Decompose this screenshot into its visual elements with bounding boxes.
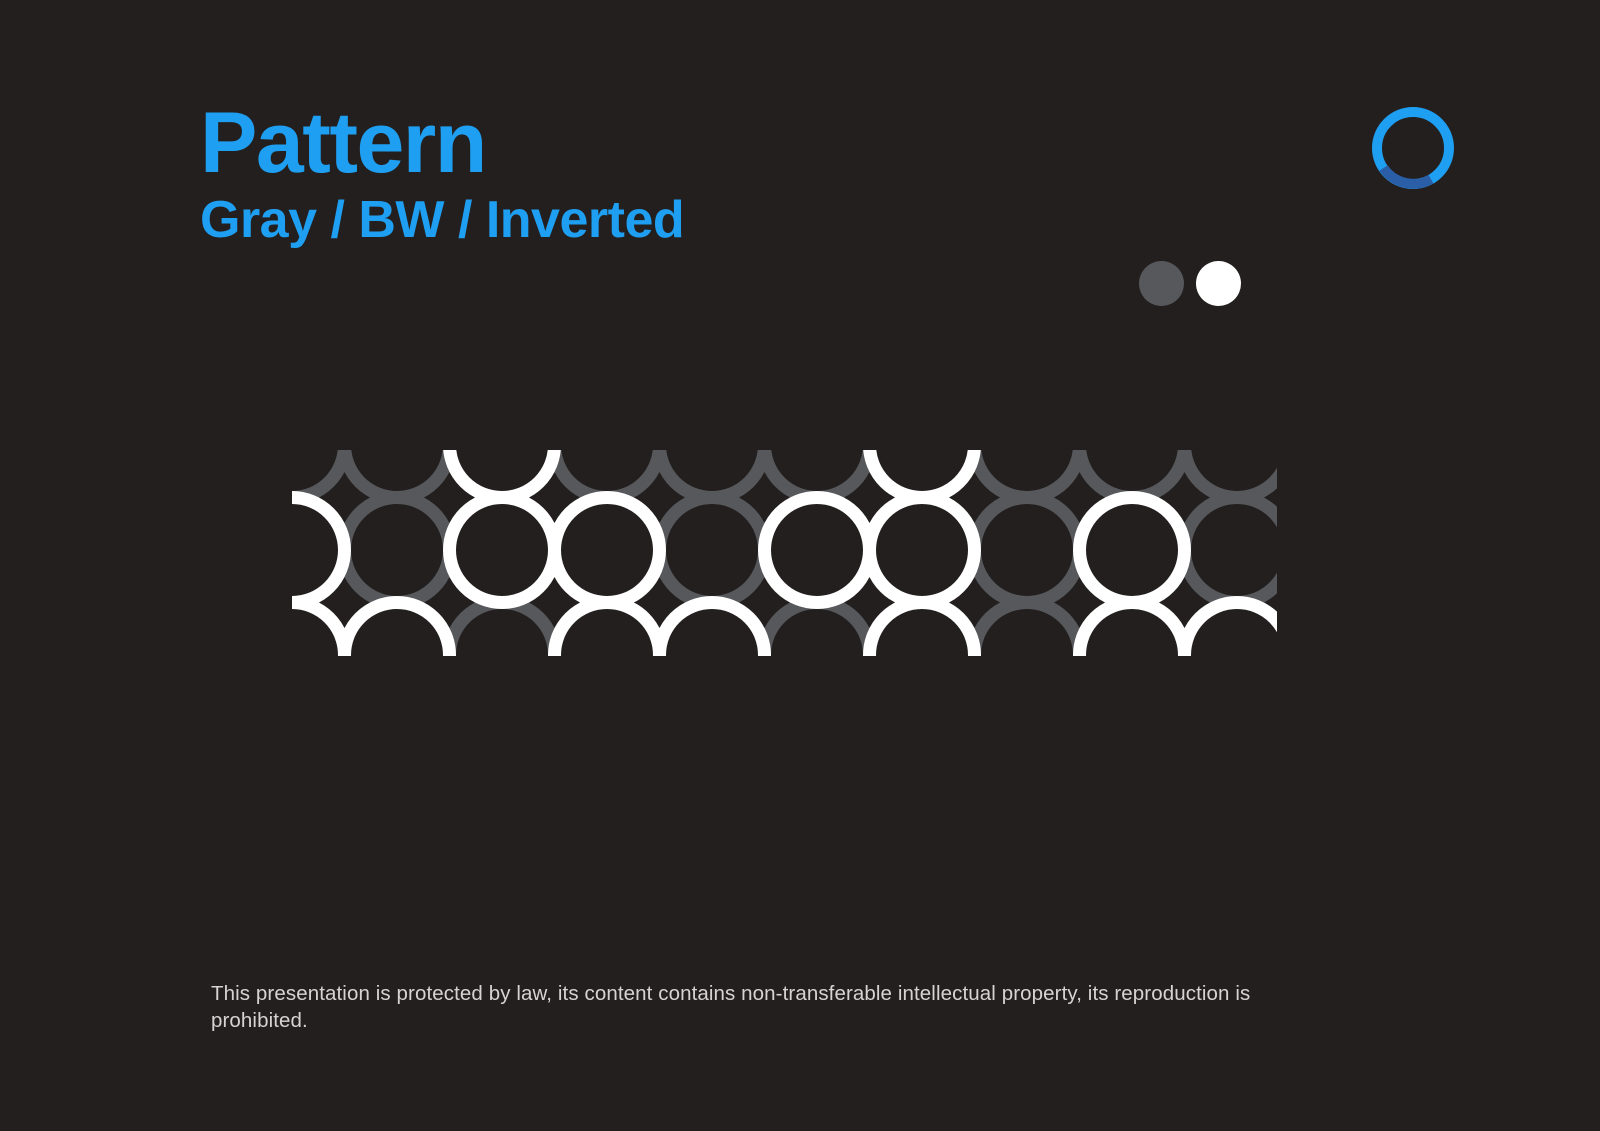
pattern-circle [292, 603, 345, 657]
page-subtitle: Gray / BW / Inverted [200, 193, 1100, 248]
pattern-circle [975, 603, 1080, 657]
pattern-circle [555, 450, 660, 498]
title-block: Pattern Gray / BW / Inverted [200, 104, 1100, 248]
pattern-circle [765, 450, 870, 498]
pattern-circle [450, 603, 555, 657]
pattern-circle [870, 498, 975, 603]
pattern-circle [450, 498, 555, 603]
pattern-circle [1080, 498, 1185, 603]
page-title: Pattern [200, 104, 1100, 183]
slide-canvas: Pattern Gray / BW / Inverted This presen… [0, 0, 1600, 1131]
pattern-circle [1185, 498, 1278, 603]
pattern-circle [1080, 450, 1185, 498]
color-swatch-group [1139, 261, 1241, 306]
pattern-circle [345, 450, 450, 498]
circle-lattice-pattern [292, 450, 1277, 656]
pattern-circle [1185, 450, 1278, 498]
pattern-circle [975, 498, 1080, 603]
pattern-circle [870, 603, 975, 657]
pattern-circle [765, 498, 870, 603]
pattern-circle [765, 603, 870, 657]
pattern-circle [975, 450, 1080, 498]
pattern-circle [1185, 603, 1278, 657]
footer-legal-note: This presentation is protected by law, i… [211, 980, 1311, 1034]
pattern-circle [660, 498, 765, 603]
pattern-circle [870, 450, 975, 498]
pattern-circle [450, 450, 555, 498]
pattern-circle [345, 603, 450, 657]
pattern-circle [555, 498, 660, 603]
gray-swatch [1139, 261, 1184, 306]
ring-logo-svg [1368, 103, 1458, 193]
white-swatch [1196, 261, 1241, 306]
pattern-circle [660, 450, 765, 498]
pattern-circle [345, 498, 450, 603]
pattern-circle [292, 450, 345, 498]
pattern-circle [660, 603, 765, 657]
pattern-svg [292, 450, 1277, 656]
ring-dark-arc [1384, 168, 1431, 184]
ring-logo [1368, 103, 1458, 193]
pattern-circle [555, 603, 660, 657]
pattern-circle [292, 498, 345, 603]
pattern-circle [1080, 603, 1185, 657]
